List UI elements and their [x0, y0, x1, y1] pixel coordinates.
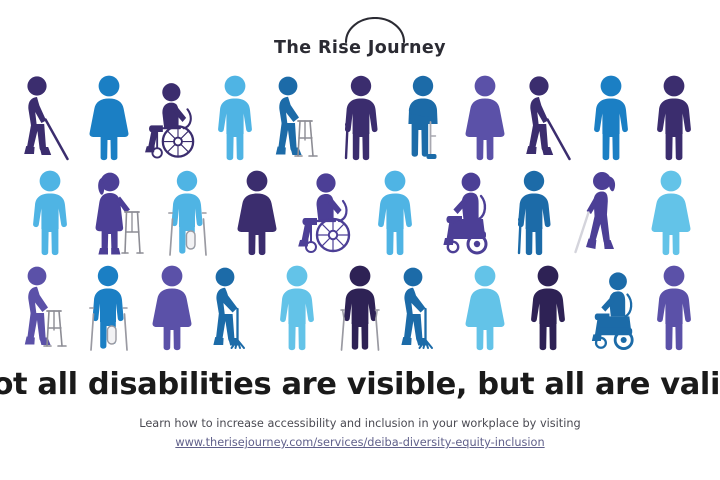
- person-standing-female: [636, 163, 705, 257]
- pictogram-row-2: [15, 163, 705, 257]
- subtext-line: Learn how to increase accessibility and …: [139, 417, 580, 430]
- subtext-block: Learn how to increase accessibility and …: [139, 415, 580, 452]
- person-in-power-wheelchair: [429, 163, 498, 257]
- person-on-crutches-leg-cast: [153, 163, 222, 257]
- brand-logo: The Rise Journey: [274, 17, 446, 57]
- poster-canvas: The Rise Journey Not all disabilities ar…: [0, 0, 720, 480]
- page-title: Not all disabilities are visible, but al…: [0, 368, 720, 402]
- pictogram-row-1: [15, 68, 705, 162]
- website-link[interactable]: www.therisejourney.com/services/deiba-di…: [139, 434, 580, 452]
- person-standing-female: [454, 258, 517, 352]
- person-standing-with-cane: [329, 68, 392, 162]
- person-in-power-wheelchair: [580, 258, 643, 352]
- woman-walking-with-white-cane: [567, 163, 636, 257]
- person-walking-with-cane: [15, 68, 78, 162]
- person-bent-with-quad-cane: [391, 258, 454, 352]
- person-in-manual-wheelchair: [140, 68, 203, 162]
- brand-name: The Rise Journey: [274, 40, 446, 58]
- person-standing-female: [454, 68, 517, 162]
- person-on-crutches-leg-cast: [78, 258, 141, 352]
- person-standing-male: [266, 258, 329, 352]
- person-with-prosthetic-leg: [391, 68, 454, 162]
- person-walking-with-white-cane: [517, 68, 580, 162]
- girl-with-walking-frame: [84, 163, 153, 257]
- person-standing-male: [360, 163, 429, 257]
- person-with-walking-frame: [266, 68, 329, 162]
- person-standing-female: [222, 163, 291, 257]
- person-in-manual-wheelchair: [291, 163, 360, 257]
- pictogram-row-3: [15, 258, 705, 352]
- person-standing-with-cane: [498, 163, 567, 257]
- person-standing-male: [580, 68, 643, 162]
- pictogram-grid: [15, 68, 705, 352]
- person-standing-male: [203, 68, 266, 162]
- person-standing-male: [15, 163, 84, 257]
- person-standing-female: [78, 68, 141, 162]
- person-on-forearm-crutches: [329, 258, 392, 352]
- person-standing-male: [642, 68, 705, 162]
- person-bent-with-quad-cane: [203, 258, 266, 352]
- person-standing-male: [517, 258, 580, 352]
- person-standing-male: [642, 258, 705, 352]
- person-standing-female: [140, 258, 203, 352]
- person-with-walking-frame: [15, 258, 78, 352]
